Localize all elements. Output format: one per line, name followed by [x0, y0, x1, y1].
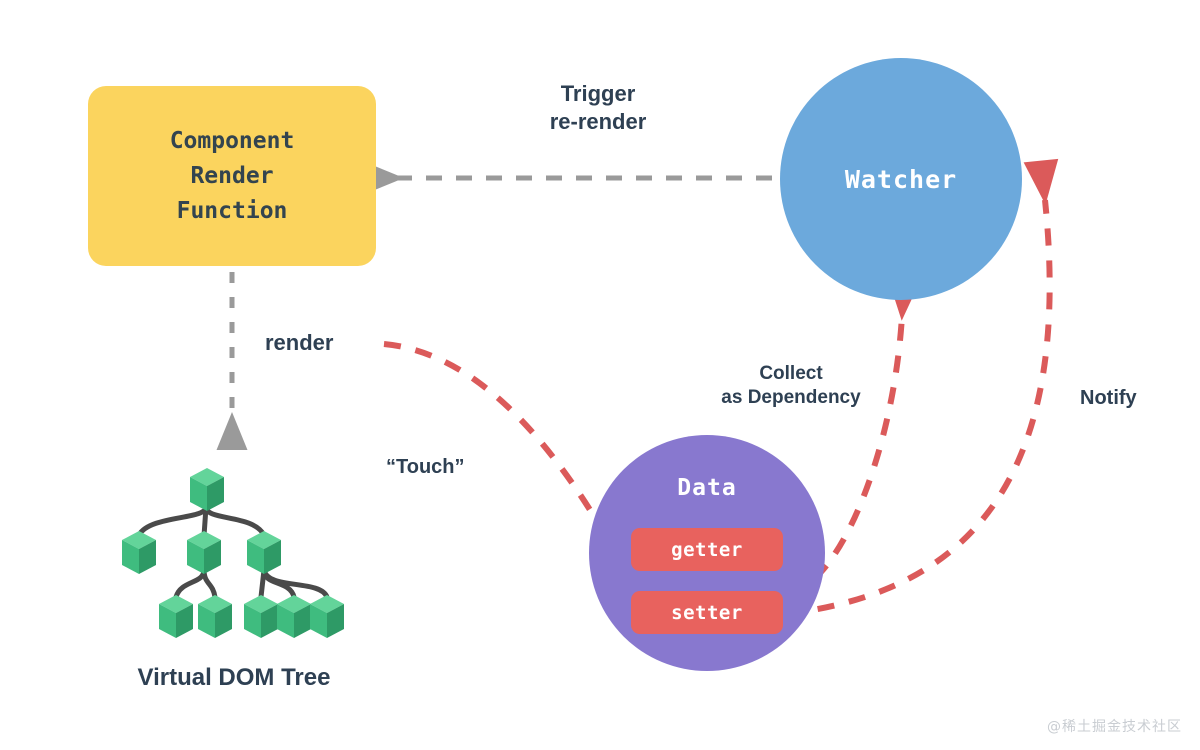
getter-box[interactable]: getter — [631, 528, 783, 571]
data-title: Data — [589, 475, 825, 501]
tree-node-cube — [190, 468, 224, 511]
tree-edges — [139, 507, 327, 597]
tree-node-cube — [310, 595, 344, 638]
tree-nodes — [122, 468, 344, 638]
tree-node-cube — [277, 595, 311, 638]
diagram-canvas: Component Render Function Watcher Data g… — [0, 0, 1200, 750]
component-render-function-label: Component Render Function — [170, 124, 295, 229]
notify-label: Notify — [1080, 386, 1190, 412]
tree-node-cube — [244, 595, 278, 638]
touch-label: “Touch” — [386, 455, 506, 481]
render-label: render — [265, 329, 375, 357]
tree-node-cube — [159, 595, 193, 638]
watermark: @稀土掘金技术社区 — [1047, 716, 1182, 736]
tree-node-cube — [198, 595, 232, 638]
collect-as-dependency-label: Collect as Dependency — [690, 362, 892, 411]
tree-node-cube — [187, 531, 221, 574]
data-node[interactable]: Data getter setter — [589, 435, 825, 671]
trigger-re-render-label: Trigger re-render — [498, 80, 698, 136]
watcher-node[interactable]: Watcher — [780, 58, 1022, 300]
tree-node-cube — [122, 531, 156, 574]
setter-box[interactable]: setter — [631, 591, 783, 634]
watcher-label: Watcher — [845, 165, 957, 194]
component-render-function-box[interactable]: Component Render Function — [88, 86, 376, 266]
virtual-dom-tree-label: Virtual DOM Tree — [100, 663, 368, 694]
tree-node-cube — [247, 531, 281, 574]
